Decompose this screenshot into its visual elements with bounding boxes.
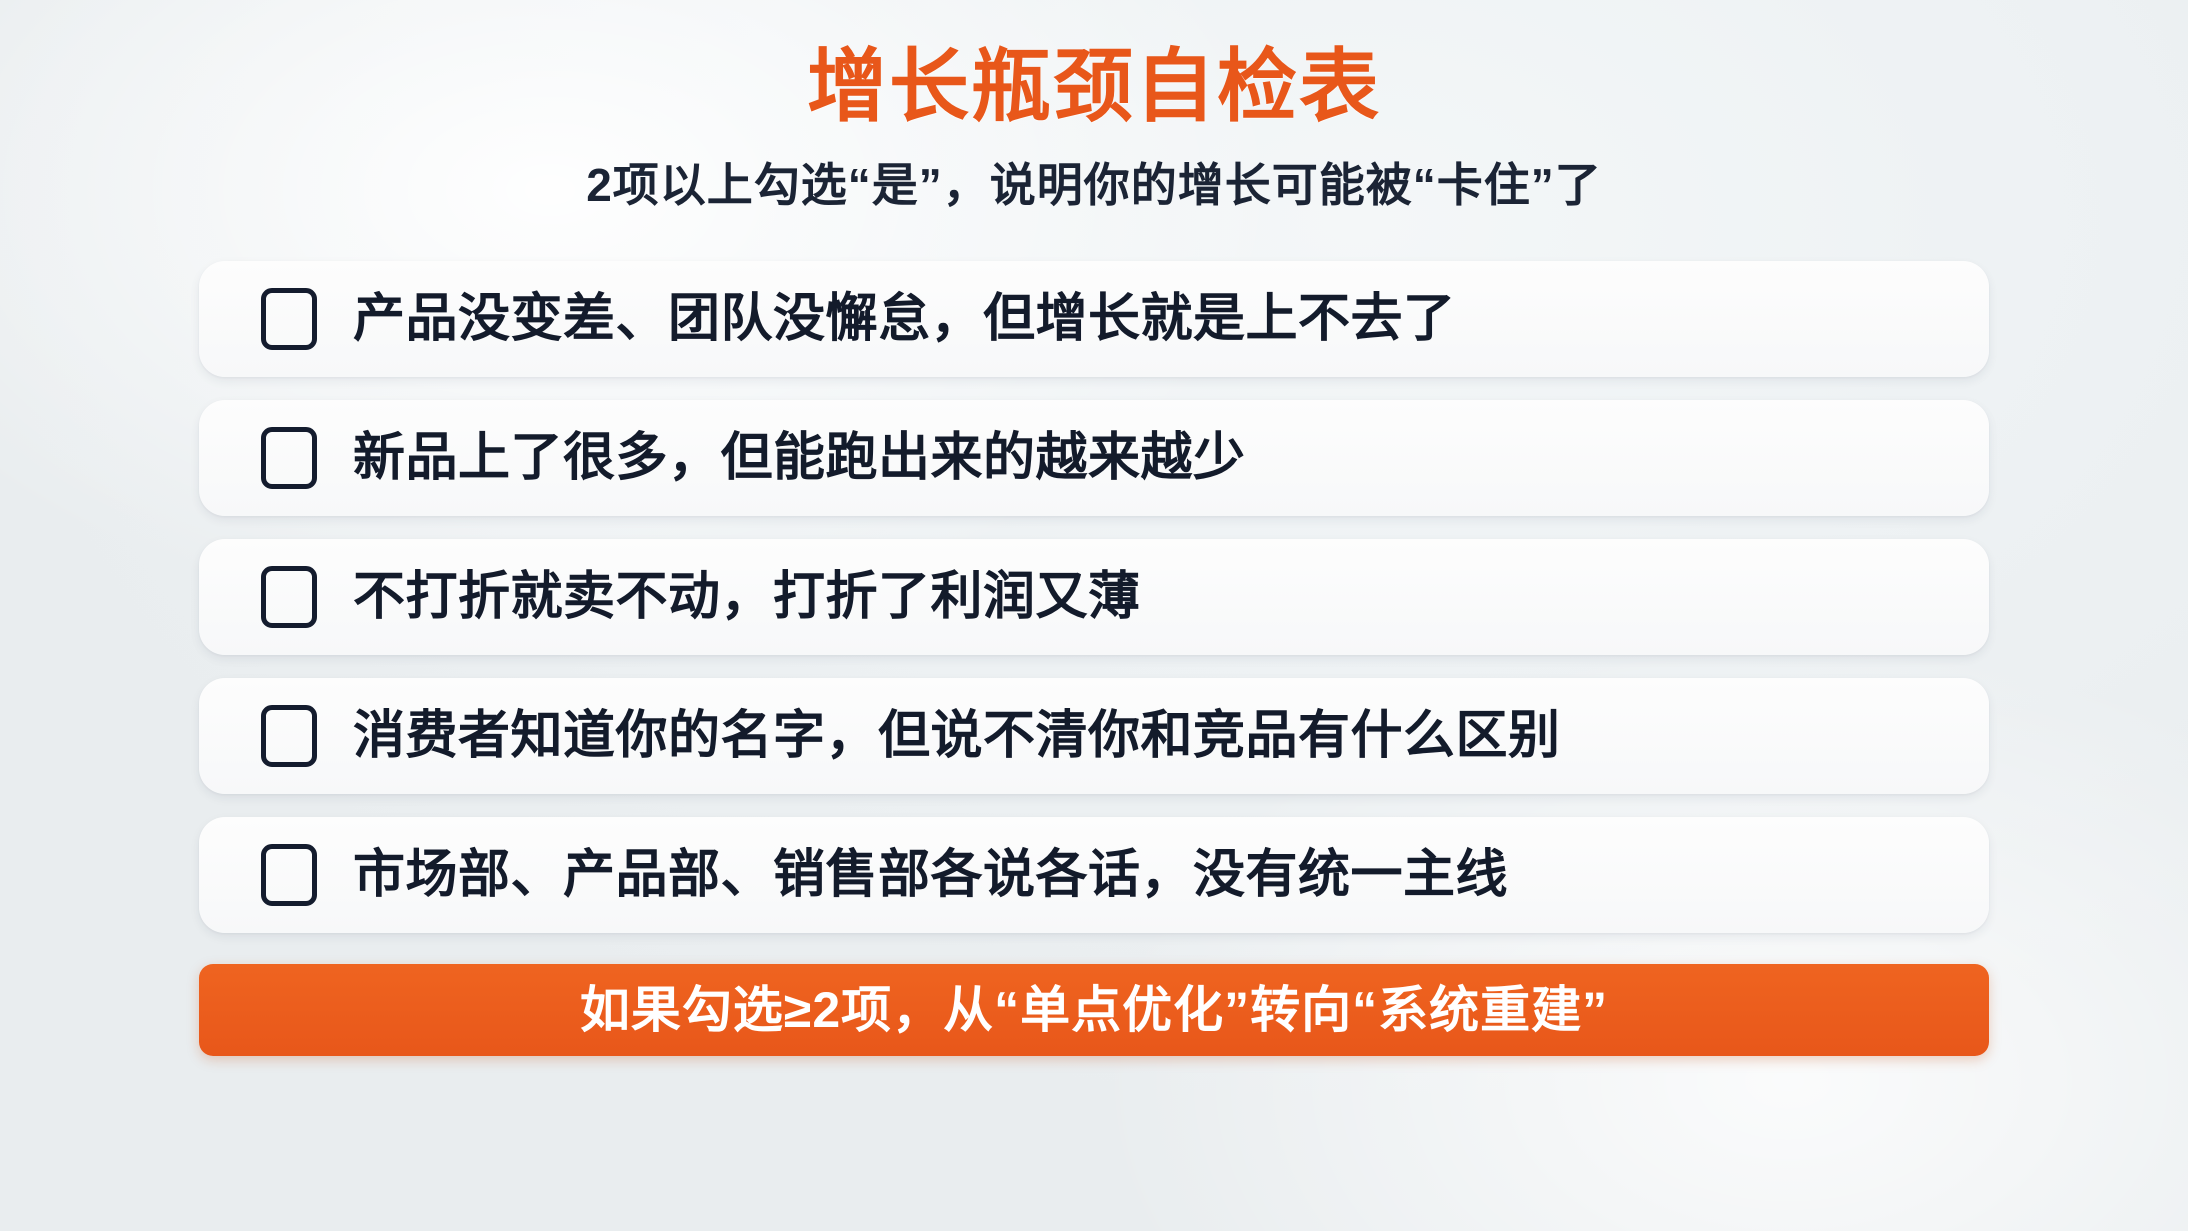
checklist-item-label: 不打折就卖不动，打折了利润又薄 bbox=[353, 571, 1141, 623]
conclusion-banner-text: 如果勾选≥2项，从“单点优化”转向“系统重建” bbox=[580, 985, 1608, 1035]
checkbox-icon[interactable] bbox=[261, 844, 317, 906]
page-title: 增长瓶颈自检表 bbox=[0, 42, 2188, 132]
checklist-item-label: 市场部、产品部、销售部各说各话，没有统一主线 bbox=[353, 849, 1508, 901]
checkbox-icon[interactable] bbox=[261, 427, 317, 489]
poster-header: 增长瓶颈自检表 2项以上勾选“是”，说明你的增长可能被“卡住”了 bbox=[0, 0, 2188, 213]
checklist-item-1[interactable]: 产品没变差、团队没懈怠，但增长就是上不去了 bbox=[199, 261, 1989, 377]
checklist-item-label: 产品没变差、团队没懈怠，但增长就是上不去了 bbox=[353, 293, 1456, 345]
checklist-item-label: 消费者知道你的名字，但说不清你和竞品有什么区别 bbox=[353, 710, 1561, 762]
checklist-item-2[interactable]: 新品上了很多，但能跑出来的越来越少 bbox=[199, 400, 1989, 516]
checklist-item-5[interactable]: 市场部、产品部、销售部各说各话，没有统一主线 bbox=[199, 817, 1989, 933]
checkbox-icon[interactable] bbox=[261, 566, 317, 628]
checklist-item-3[interactable]: 不打折就卖不动，打折了利润又薄 bbox=[199, 539, 1989, 655]
conclusion-banner: 如果勾选≥2项，从“单点优化”转向“系统重建” bbox=[199, 964, 1989, 1056]
checkbox-icon[interactable] bbox=[261, 288, 317, 350]
checklist: 产品没变差、团队没懈怠，但增长就是上不去了 新品上了很多，但能跑出来的越来越少 … bbox=[199, 261, 1989, 933]
checklist-poster: 增长瓶颈自检表 2项以上勾选“是”，说明你的增长可能被“卡住”了 产品没变差、团… bbox=[0, 0, 2188, 1231]
checklist-item-4[interactable]: 消费者知道你的名字，但说不清你和竞品有什么区别 bbox=[199, 678, 1989, 794]
checkbox-icon[interactable] bbox=[261, 705, 317, 767]
page-subtitle: 2项以上勾选“是”，说明你的增长可能被“卡住”了 bbox=[0, 158, 2188, 213]
checklist-item-label: 新品上了很多，但能跑出来的越来越少 bbox=[353, 432, 1246, 484]
